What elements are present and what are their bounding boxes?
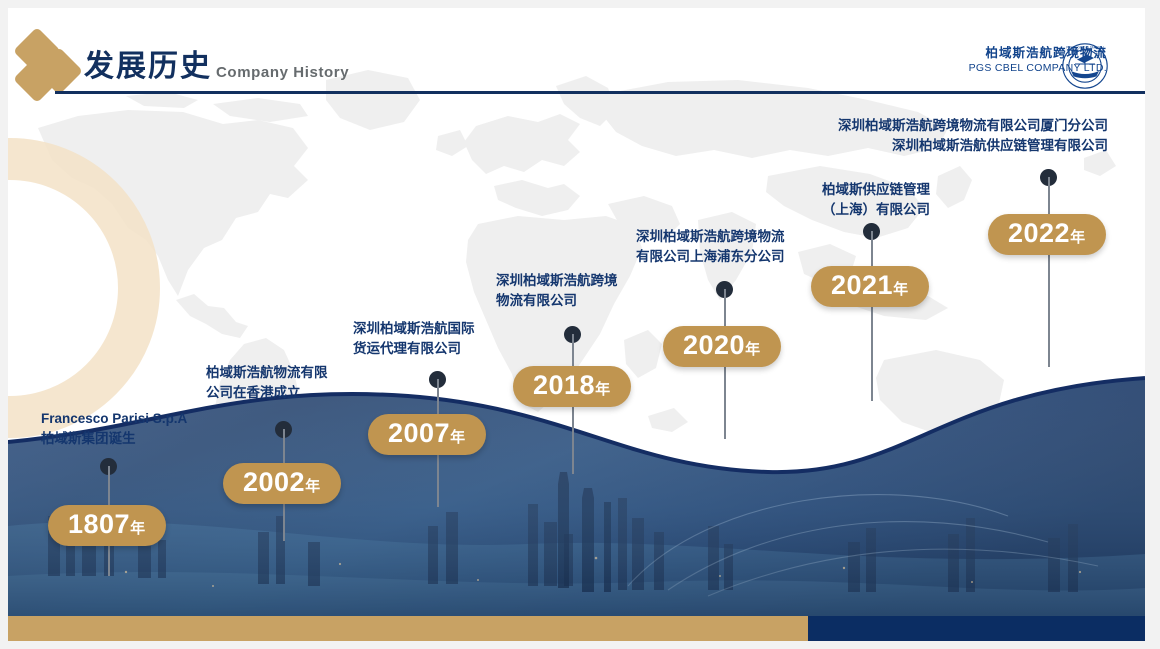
milestone-year-suffix: 年 — [305, 478, 321, 495]
milestone-year-badge[interactable]: 2018年 — [513, 366, 631, 407]
milestone-label: Francesco Parisi S.p.A 柏域斯集团诞生 — [41, 409, 271, 448]
footer-bar — [8, 616, 1145, 641]
milestone-year: 2018 — [533, 370, 595, 400]
milestone-stem — [871, 231, 873, 401]
milestone-year-badge[interactable]: 2021年 — [811, 266, 929, 307]
footer-bar-navy — [808, 616, 1145, 641]
brand-logo: 柏域斯浩航跨境物流 PGS CBEL COMPANY LTD. PARISI G… — [969, 46, 1107, 75]
page-title: 发展历史 — [84, 52, 212, 82]
milestone-label: 柏域斯浩航物流有限 公司在香港成立 — [206, 363, 406, 402]
milestone-year-suffix: 年 — [130, 520, 146, 537]
page-subtitle: Company History — [216, 64, 349, 81]
svg-text:PARISI GRAND SMOOTH: PARISI GRAND SMOOTH — [1066, 45, 1104, 49]
slide-canvas: 发展历史 Company History 柏域斯浩航跨境物流 PGS CBEL … — [8, 8, 1145, 641]
milestone-year-suffix: 年 — [595, 381, 611, 398]
milestone-year: 2007 — [388, 418, 450, 448]
milestone-year: 2022 — [1008, 218, 1070, 248]
milestone-label: 深圳柏域斯浩航跨境物流有限公司厦门分公司 深圳柏域斯浩航供应链管理有限公司 — [688, 116, 1108, 155]
milestone-year-suffix: 年 — [893, 281, 909, 298]
milestone-year-badge[interactable]: 2022年 — [988, 214, 1106, 255]
milestone-label: 深圳柏域斯浩航跨境 物流有限公司 — [496, 271, 706, 310]
milestone-year-badge[interactable]: 1807年 — [48, 505, 166, 546]
milestone-year-suffix: 年 — [450, 429, 466, 446]
page-header: 发展历史 Company History 柏域斯浩航跨境物流 PGS CBEL … — [8, 8, 1145, 104]
milestone-year: 2021 — [831, 270, 893, 300]
footer-bar-gold — [8, 616, 808, 641]
milestone-year-suffix: 年 — [745, 341, 761, 358]
milestone-year: 2002 — [243, 467, 305, 497]
milestone-stem — [1048, 177, 1050, 367]
milestone-year: 2020 — [683, 330, 745, 360]
milestone-year-badge[interactable]: 2002年 — [223, 463, 341, 504]
milestone-label: 柏域斯供应链管理 （上海）有限公司 — [786, 180, 966, 219]
diamond-cluster-icon — [16, 34, 80, 96]
milestone-year: 1807 — [68, 509, 130, 539]
header-divider — [55, 91, 1145, 94]
milestone-label: 深圳柏域斯浩航国际 货运代理有限公司 — [353, 319, 563, 358]
milestone-year-suffix: 年 — [1070, 229, 1086, 246]
milestone-year-badge[interactable]: 2007年 — [368, 414, 486, 455]
milestone-label: 深圳柏域斯浩航跨境物流 有限公司上海浦东分公司 — [636, 227, 886, 266]
milestone-year-badge[interactable]: 2020年 — [663, 326, 781, 367]
ship-seal-icon: PARISI GRAND SMOOTH — [1061, 42, 1109, 90]
